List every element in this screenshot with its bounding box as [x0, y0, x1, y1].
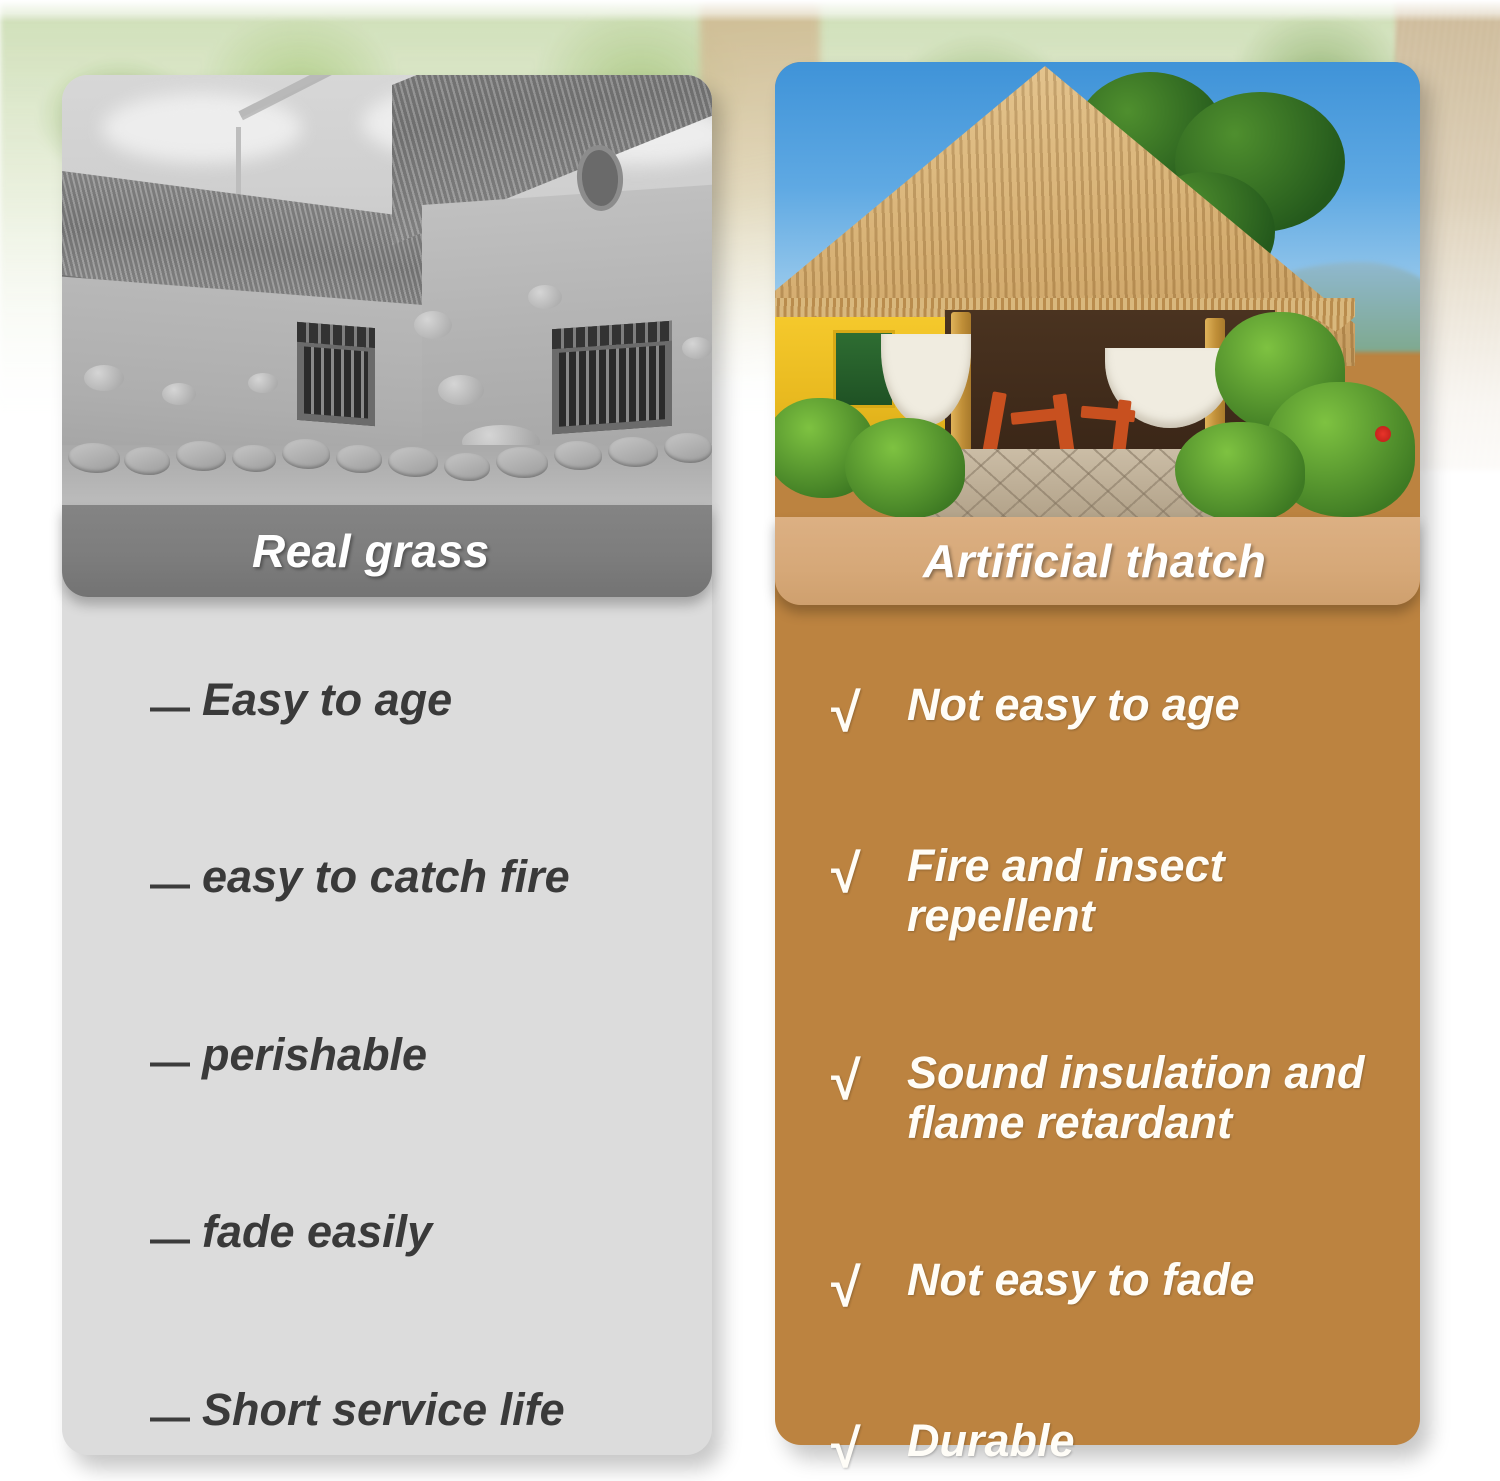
window-right — [552, 321, 672, 434]
list-item: √ Sound insulation and flame retardant — [831, 1048, 1404, 1149]
photo-artificial-thatch — [775, 62, 1420, 517]
photo-real-grass — [62, 75, 712, 505]
dash-marker-icon: — — [150, 1397, 202, 1437]
base-stone — [496, 447, 548, 478]
wall-bump — [414, 311, 452, 339]
list-item-label: fade easily — [202, 1207, 432, 1257]
wall-bump — [682, 337, 712, 359]
base-stone — [336, 445, 382, 473]
feature-list-real-grass: — Easy to age — easy to catch fire — per… — [62, 675, 712, 1435]
comparison-card-real-grass: Real grass — Easy to age — easy to catch… — [62, 75, 712, 1455]
base-stone — [608, 437, 658, 467]
list-item-label: Not easy to fade — [907, 1255, 1255, 1305]
list-item: √ Fire and insect repellent — [831, 841, 1404, 942]
wall-bump — [528, 285, 562, 309]
list-item-label: Not easy to age — [907, 680, 1240, 730]
foliage-bush — [845, 418, 965, 517]
list-item: √ Not easy to age — [831, 680, 1404, 734]
list-item-label: perishable — [202, 1030, 427, 1080]
card-title-banner-left: Real grass — [62, 505, 712, 597]
base-stone — [232, 445, 276, 472]
comparison-card-artificial-thatch: Artificial thatch √ Not easy to age √ Fi… — [775, 62, 1420, 1445]
wall-bump — [248, 373, 278, 393]
list-item: √ Durable — [831, 1416, 1404, 1470]
base-stone — [388, 447, 438, 477]
base-stone — [176, 441, 226, 471]
dash-marker-icon: — — [150, 864, 202, 904]
check-marker-icon: √ — [831, 1422, 907, 1476]
check-marker-icon: √ — [831, 686, 907, 740]
check-marker-icon: √ — [831, 847, 907, 901]
background-top-strip — [0, 0, 1500, 22]
list-item-label: easy to catch fire — [202, 852, 570, 902]
dash-marker-icon: — — [150, 687, 202, 727]
list-item: — Short service life — [150, 1385, 678, 1435]
wall-bump — [84, 365, 124, 391]
list-item-label: Durable — [907, 1416, 1075, 1466]
list-item: — easy to catch fire — [150, 852, 678, 902]
base-stone — [282, 439, 330, 469]
check-marker-icon: √ — [831, 1054, 907, 1108]
wall-bump — [162, 383, 196, 405]
base-stone — [444, 453, 490, 481]
comparison-infographic: Real grass — Easy to age — easy to catch… — [0, 0, 1500, 1481]
wall-bump — [438, 375, 484, 405]
window-left — [297, 322, 375, 426]
list-item-label: Short service life — [202, 1385, 565, 1435]
dash-marker-icon: — — [150, 1042, 202, 1082]
card-title-banner-right: Artificial thatch — [775, 517, 1420, 605]
list-item: — Easy to age — [150, 675, 678, 725]
list-item: — fade easily — [150, 1207, 678, 1257]
list-item-label: Easy to age — [202, 675, 452, 725]
window-transom — [297, 322, 375, 352]
base-stone — [68, 443, 120, 473]
feature-list-artificial-thatch: √ Not easy to age √ Fire and insect repe… — [775, 680, 1420, 1470]
foliage-bush — [1175, 422, 1305, 517]
dash-marker-icon: — — [150, 1219, 202, 1259]
cloud-shape — [102, 93, 302, 163]
list-item-label: Fire and insect repellent — [907, 841, 1404, 942]
red-flower — [1375, 426, 1391, 442]
card-title-real-grass: Real grass — [252, 524, 490, 578]
list-item: — perishable — [150, 1030, 678, 1080]
list-item: √ Not easy to fade — [831, 1255, 1404, 1309]
list-item-label: Sound insulation and flame retardant — [907, 1048, 1404, 1149]
base-stone — [664, 433, 712, 463]
check-marker-icon: √ — [831, 1261, 907, 1315]
card-title-artificial-thatch: Artificial thatch — [923, 534, 1266, 588]
base-stone — [124, 447, 170, 475]
base-stone — [554, 441, 602, 470]
